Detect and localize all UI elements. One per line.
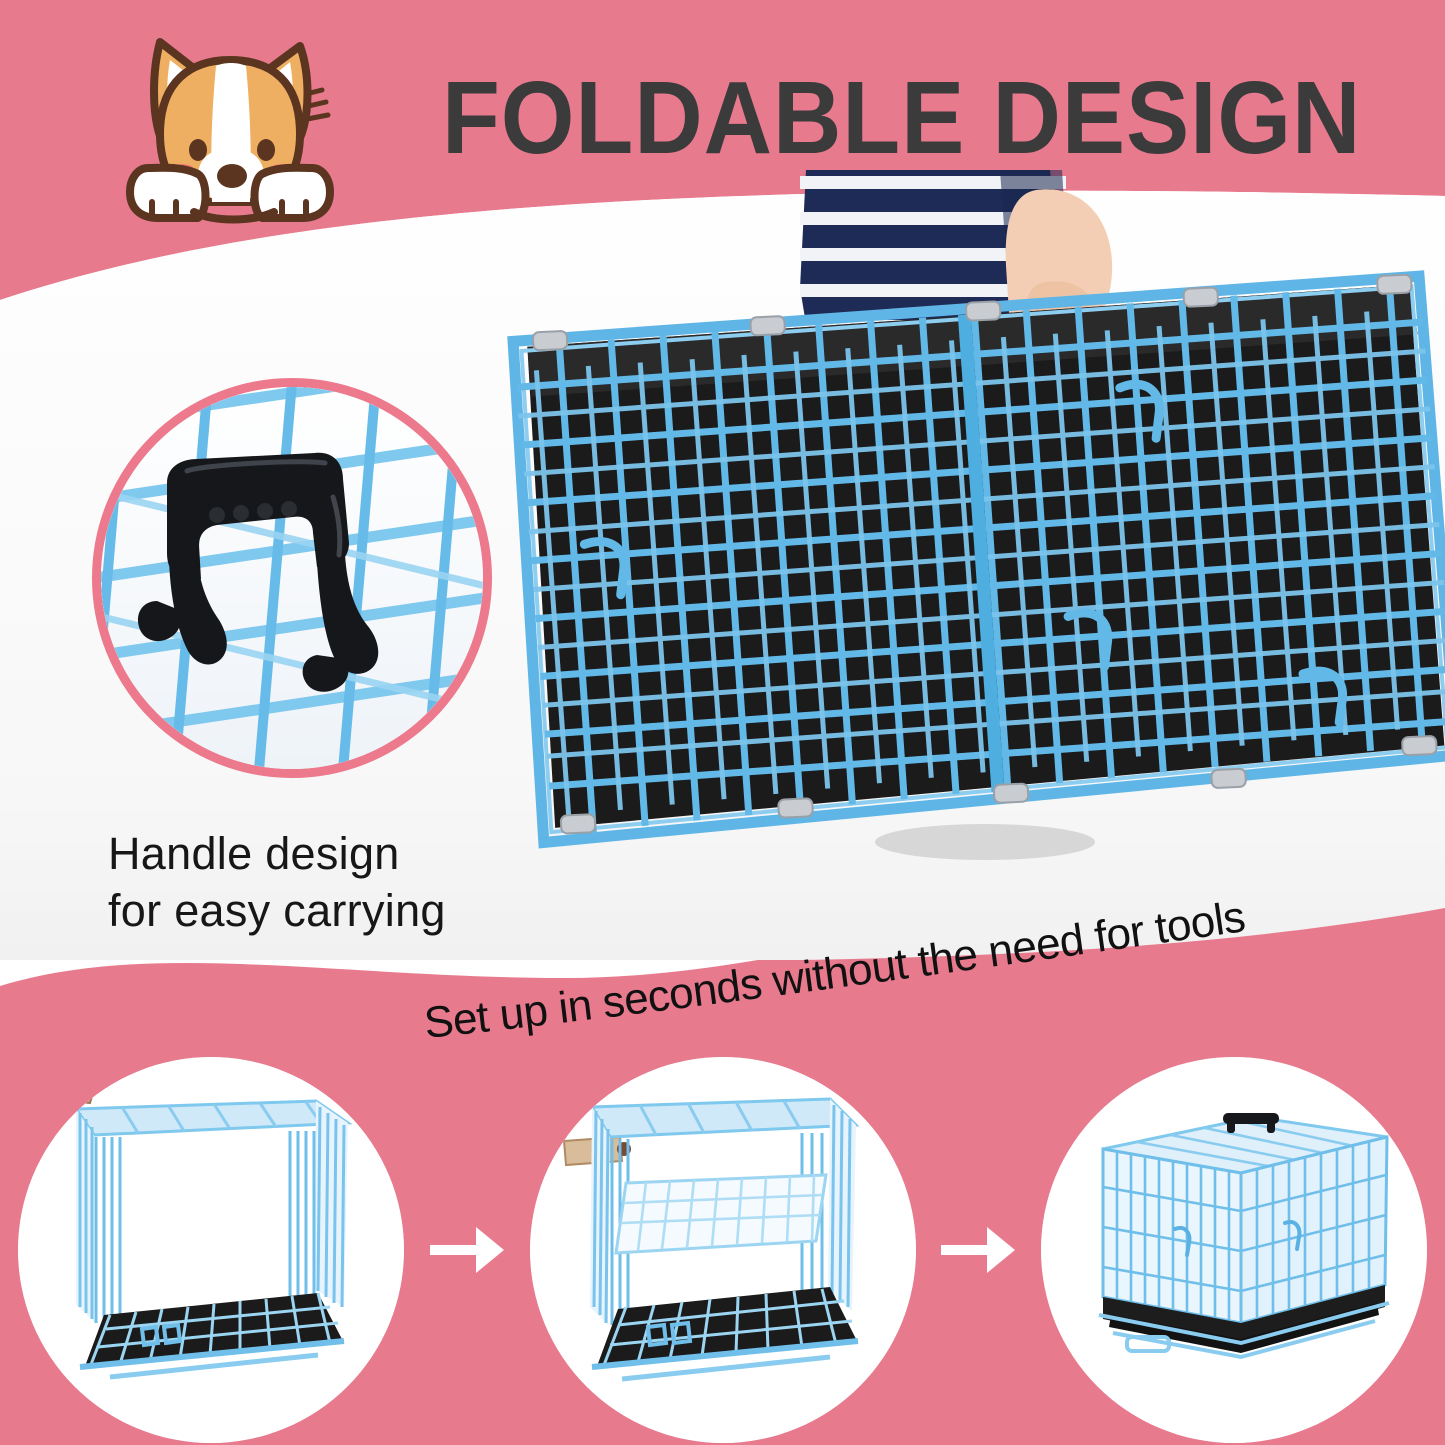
arrow-right-icon-1 — [424, 1207, 510, 1293]
handle-caption-line2: for easy carrying — [108, 882, 528, 939]
handle-caption: Handle design for easy carrying — [108, 825, 528, 939]
corgi-mascot-icon — [86, 16, 386, 231]
folded-crate — [512, 273, 1445, 842]
infographic-canvas: FOLDABLE DESIGN — [0, 0, 1445, 1445]
arrow-right-icon-2 — [935, 1207, 1021, 1293]
wooden-peg-icon — [48, 1081, 96, 1103]
handle-closeup-inset — [92, 378, 492, 778]
handle-caption-line1: Handle design — [108, 825, 528, 882]
crate-assembled — [1099, 1113, 1389, 1357]
header: FOLDABLE DESIGN — [0, 0, 1445, 250]
setup-step-2 — [530, 1057, 916, 1443]
setup-step-3 — [1041, 1057, 1427, 1443]
setup-steps-row — [0, 1055, 1445, 1445]
setup-step-1 — [18, 1057, 404, 1443]
door-panel — [616, 1175, 826, 1253]
page-title: FOLDABLE DESIGN — [442, 58, 1270, 178]
